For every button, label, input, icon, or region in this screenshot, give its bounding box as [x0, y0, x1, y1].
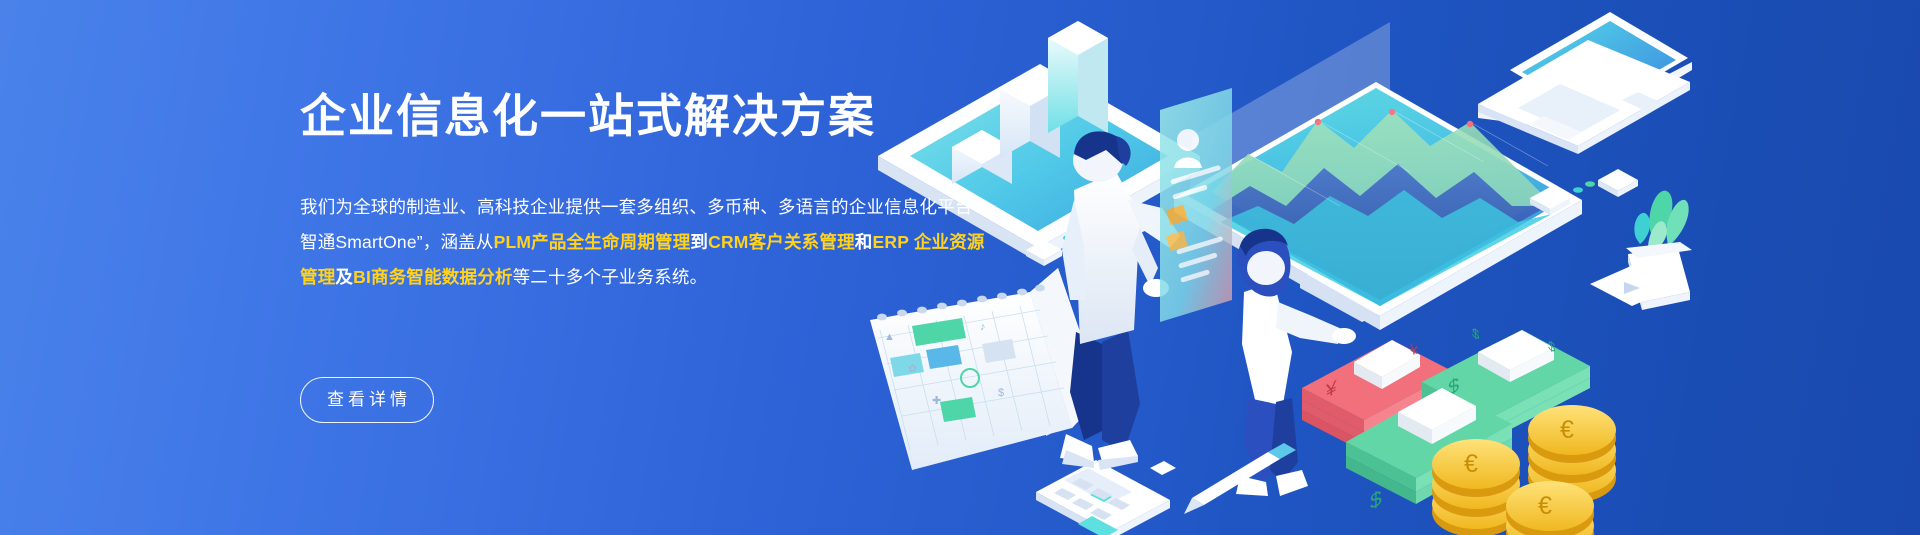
floating-tiles-right [1530, 169, 1638, 215]
svg-text:▲: ▲ [884, 331, 895, 343]
desc-connector: 及 [335, 267, 353, 287]
pen [1184, 443, 1296, 514]
hero-copy-block: 企业信息化一站式解决方案 我们为全球的制造业、高科技企业提供一套多组织、多币种、… [300, 88, 1020, 295]
hero-banner: ▲ ✿ ✚ ♪ $ [0, 0, 1920, 535]
svg-text:♪: ♪ [980, 321, 986, 333]
svg-text:✚: ✚ [932, 395, 941, 407]
page-title: 企业信息化一站式解决方案 [300, 88, 1020, 144]
desc-highlight: BI商务智能数据分析 [353, 267, 513, 287]
svg-text:✿: ✿ [908, 363, 917, 375]
desc-connector: 到 [690, 232, 708, 252]
desc-highlight: CRM客户关系管理 [708, 232, 855, 252]
svg-text:€: € [1538, 492, 1552, 520]
profile-card-panel [1160, 88, 1232, 322]
coin-stack-front-right: € [1506, 481, 1594, 535]
desc-highlight: PLM产品全生命周期管理 [494, 232, 691, 252]
desc-text: 等二十多个子业务系统。 [513, 267, 708, 287]
calculator [1036, 460, 1176, 535]
svg-text:$: $ [998, 387, 1004, 399]
hero-description: 我们为全球的制造业、高科技企业提供一套多组织、多币种、多语言的企业信息化平台“一… [300, 190, 1000, 295]
laptop-line-chart [1478, 12, 1692, 154]
view-details-button[interactable]: 查看详情 [300, 377, 434, 423]
svg-text:€: € [1560, 416, 1574, 444]
desc-connector: 和 [855, 232, 873, 252]
